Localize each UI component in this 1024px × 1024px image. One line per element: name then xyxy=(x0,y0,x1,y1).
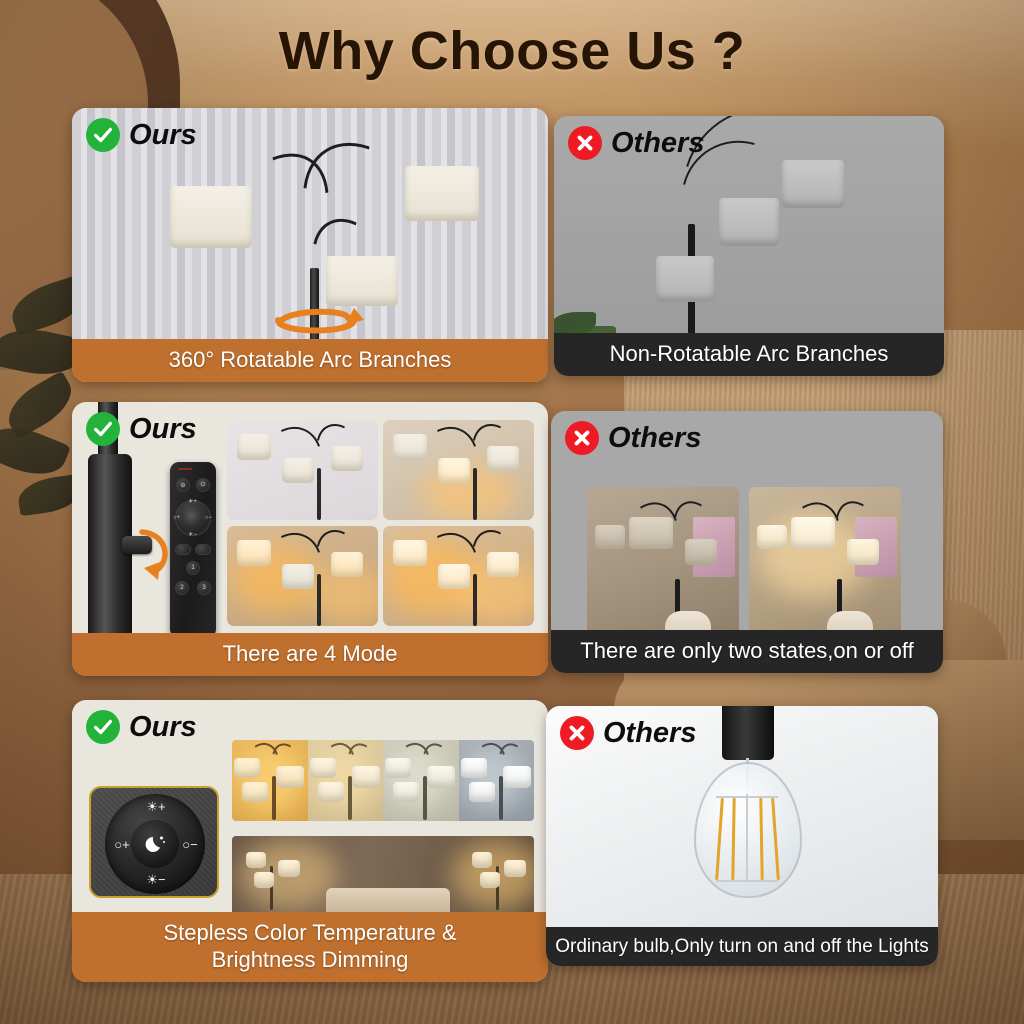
ct-shade xyxy=(242,782,268,802)
room-sofa xyxy=(326,888,450,912)
dial-brightness-up-icon[interactable]: ☀+ xyxy=(136,799,176,815)
remote-button-power-off[interactable]: ⊖ xyxy=(176,478,190,492)
badge-label-ours: Ours xyxy=(129,713,197,742)
ct-shade xyxy=(461,758,487,778)
room-lamp-shade xyxy=(278,860,300,877)
remote-button-temp-down[interactable]: ○− xyxy=(203,513,214,523)
panel-others-row3-image: Others xyxy=(546,706,938,927)
check-circle-icon xyxy=(86,710,120,744)
tile-shade xyxy=(282,564,314,589)
room-lamp-shade xyxy=(472,852,492,868)
badge-label-others: Others xyxy=(611,129,704,158)
dial-temp-down-icon[interactable]: ○− xyxy=(175,836,205,852)
ct-cell-warm xyxy=(232,740,308,821)
tile-shade xyxy=(331,446,363,471)
lamp-shade-lit xyxy=(847,539,879,565)
ct-cell-neutral xyxy=(383,740,459,821)
lamp-shade-lit xyxy=(757,525,787,549)
badge-label-others: Others xyxy=(608,424,701,453)
ct-shade xyxy=(234,758,260,778)
caption-ours-row3: Stepless Color Temperature & Brightness … xyxy=(72,912,548,982)
bulb-crossbar xyxy=(716,796,778,798)
remote-button-mode-1[interactable]: 1 xyxy=(186,561,200,575)
ct-shade xyxy=(385,758,411,778)
panel-others-row2-image: Others xyxy=(551,411,943,630)
badge-ours-row1: Ours xyxy=(86,118,197,152)
badge-others-row1: Others xyxy=(568,126,704,160)
lamp-shade-right xyxy=(405,166,479,221)
tile-shade-lit xyxy=(438,458,470,483)
caption-line-1: Stepless Color Temperature & xyxy=(163,920,456,945)
ct-shade xyxy=(503,766,531,788)
check-circle-icon xyxy=(86,118,120,152)
badge-ours-row3: Ours xyxy=(86,710,197,744)
badge-ours-row2: Ours xyxy=(86,412,197,446)
rotation-arrow-icon xyxy=(268,300,364,339)
badge-label-others: Others xyxy=(603,719,696,748)
tile-shade-lit xyxy=(237,540,271,566)
caption-others-row2: There are only two states,on or off xyxy=(551,630,943,673)
ct-cell-soft-warm xyxy=(308,740,384,821)
lamp-shade-lit xyxy=(791,517,835,549)
lamp-shade-left xyxy=(170,186,252,248)
caption-ours-row2: There are 4 Mode xyxy=(72,633,548,676)
chair xyxy=(827,611,873,630)
ct-shade xyxy=(427,766,455,788)
mode-tile-4 xyxy=(383,526,534,626)
remote-button-power-on[interactable]: ⏻ xyxy=(196,478,210,492)
remote-dial-center-moon-icon[interactable] xyxy=(184,509,202,527)
tile-shade xyxy=(393,434,427,460)
chair xyxy=(665,611,711,630)
panel-others-row1[interactable]: Others Non-Rotatable Arc Branches xyxy=(554,116,944,376)
panel-ours-row1[interactable]: Ours 360° Rotatable Arc Branches xyxy=(72,108,548,382)
dial-temp-up-icon[interactable]: ○+ xyxy=(107,836,137,852)
ct-shade xyxy=(318,782,344,802)
infographic-canvas: Why Choose Us ? xyxy=(0,0,1024,1024)
remote-button-mode-3[interactable]: 3 xyxy=(197,581,211,595)
mode-tile-3 xyxy=(227,526,378,626)
dial-center-moon-stars-icon[interactable] xyxy=(131,820,179,868)
lamp-shade-center xyxy=(326,256,398,306)
remote-button-temp-up[interactable]: ○+ xyxy=(171,513,182,523)
color-temperature-strip xyxy=(232,740,534,821)
lamp-shade-top xyxy=(782,160,844,208)
dial-brightness-down-icon[interactable]: ☀− xyxy=(136,872,176,888)
ct-shade xyxy=(276,766,304,788)
tile-shade xyxy=(487,446,519,471)
bulb-socket-cap xyxy=(722,706,774,760)
caption-others-row3: Ordinary bulb,Only turn on and off the L… xyxy=(546,927,938,966)
cross-circle-icon xyxy=(560,716,594,750)
tile-shade xyxy=(237,434,271,460)
badge-others-row3: Others xyxy=(560,716,696,750)
remote-button-brightness-up[interactable]: ☀+ xyxy=(186,496,199,506)
tile-shade-lit xyxy=(393,540,427,566)
bulb-crossbar xyxy=(716,880,778,882)
tile-shade-lit xyxy=(331,552,363,577)
cross-circle-icon xyxy=(568,126,602,160)
lamp-shade xyxy=(595,525,625,549)
caption-others-row1: Non-Rotatable Arc Branches xyxy=(554,333,944,376)
ct-shade xyxy=(469,782,495,802)
tile-shade xyxy=(282,458,314,483)
ct-shade xyxy=(310,758,336,778)
panel-ours-row1-image: Ours xyxy=(72,108,548,339)
badge-others-row2: Others xyxy=(565,421,701,455)
panel-others-row3[interactable]: Others Ordinary bulb,Only turn on and of… xyxy=(546,706,938,966)
remote-led-icon xyxy=(178,468,192,470)
lamp-shade-mid xyxy=(719,198,779,246)
ct-cell-cool xyxy=(459,740,535,821)
room-lamp-shade xyxy=(480,872,500,888)
others-photo-off xyxy=(587,487,739,630)
panel-others-row1-image: Others xyxy=(554,116,944,333)
mode-tile-2 xyxy=(383,420,534,520)
room-lamp-shade xyxy=(254,872,274,888)
tile-shade-lit xyxy=(438,564,470,589)
lamp-shade xyxy=(629,517,673,549)
ct-shade xyxy=(393,782,419,802)
caption-ours-row1: 360° Rotatable Arc Branches xyxy=(72,339,548,382)
panel-ours-row3-image: ☀+ ○+ ○− ☀− xyxy=(72,700,548,912)
check-circle-icon xyxy=(86,412,120,446)
panel-ours-row2-image: ⊖ ⏻ ☀+ ○+ ○− ☀− 1 2 3 xyxy=(72,402,548,633)
panel-ours-row3[interactable]: ☀+ ○+ ○− ☀− xyxy=(72,700,548,982)
badge-label-ours: Ours xyxy=(129,121,197,150)
room-lamp-shade xyxy=(246,852,266,868)
ct-shade xyxy=(352,766,380,788)
caption-line-2: Brightness Dimming xyxy=(78,947,542,974)
lamp-shade-bottom xyxy=(656,256,714,302)
cross-circle-icon xyxy=(565,421,599,455)
panel-ours-row2[interactable]: ⊖ ⏻ ☀+ ○+ ○− ☀− 1 2 3 xyxy=(72,402,548,676)
bulb-support xyxy=(746,794,748,882)
remote-button-brightness-down[interactable]: ☀− xyxy=(186,529,199,539)
tile-shade-lit xyxy=(487,552,519,577)
mode-tile-1 xyxy=(227,420,378,520)
remote-button-night[interactable] xyxy=(195,544,211,555)
panel-others-row2[interactable]: Others There are only two states,on or o… xyxy=(551,411,943,673)
lamp-shade xyxy=(685,539,717,565)
badge-label-ours: Ours xyxy=(129,415,197,444)
dial-control-pad[interactable]: ☀+ ○+ ○− ☀− xyxy=(89,786,219,898)
others-photo-on xyxy=(749,487,901,630)
knob-rotation-arrow-icon xyxy=(136,524,180,589)
room-lamp-shade xyxy=(504,860,526,877)
living-room-photo xyxy=(232,836,534,912)
